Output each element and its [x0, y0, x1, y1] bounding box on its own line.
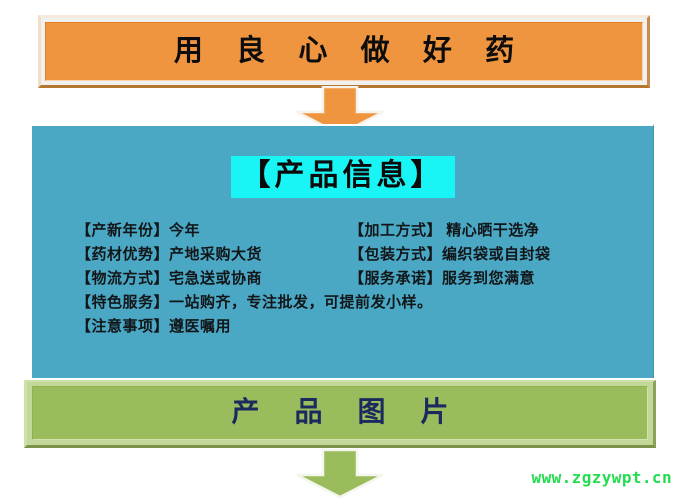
- info-label: 【产新年份】: [76, 223, 169, 239]
- info-cell-left: 【物流方式】宅急送或协商: [46, 267, 349, 291]
- info-label: 【物流方式】: [76, 271, 169, 287]
- info-row: 【注意事项】遵医嘱用: [46, 315, 653, 339]
- product-info-rows: 【产新年份】今年 【加工方式】 精心晒干选净 【药材优势】产地采购大货 【包装方…: [32, 219, 653, 339]
- info-label: 【加工方式】: [349, 223, 442, 239]
- info-row: 【物流方式】宅急送或协商 【服务承诺】服务到您满意: [46, 267, 653, 291]
- info-cell-right: 【加工方式】 精心晒干选净: [349, 219, 539, 243]
- info-value: 一站购齐，专注批发，可提前发小样。: [169, 295, 433, 311]
- product-info-title-wrap: 【产品信息】: [32, 156, 653, 198]
- slogan-banner: 用 良 心 做 好 药: [38, 15, 650, 88]
- site-watermark: www.zgzywpt.cn: [532, 468, 672, 487]
- slogan-text: 用 良 心 做 好 药: [161, 37, 527, 66]
- info-cell-left: 【药材优势】产地采购大货: [46, 243, 349, 267]
- info-label: 【药材优势】: [76, 247, 169, 263]
- info-row: 【药材优势】产地采购大货 【包装方式】编织袋或自封袋: [46, 243, 653, 267]
- info-value: 遵医嘱用: [169, 319, 231, 335]
- product-photo-banner-inner: 产 品 图 片: [32, 386, 648, 440]
- info-label: 【包装方式】: [349, 247, 442, 263]
- product-photo-text: 产 品 图 片: [217, 399, 462, 427]
- info-row: 【产新年份】今年 【加工方式】 精心晒干选净: [46, 219, 653, 243]
- slogan-banner-inner: 用 良 心 做 好 药: [45, 22, 643, 81]
- info-value: 今年: [169, 223, 200, 239]
- info-label: 【特色服务】: [76, 295, 169, 311]
- info-cell-left: 【注意事项】遵医嘱用: [46, 315, 231, 339]
- page-root: 用 良 心 做 好 药 【产品信息】 【产新年份】今年 【加工方式】 精心晒干选…: [0, 0, 680, 500]
- info-label: 【服务承诺】: [349, 271, 442, 287]
- info-value: 精心晒干选净: [442, 223, 539, 239]
- info-cell-left: 【产新年份】今年: [46, 219, 349, 243]
- info-value: 服务到您满意: [442, 271, 535, 287]
- info-row: 【特色服务】一站购齐，专注批发，可提前发小样。: [46, 291, 653, 315]
- info-value: 编织袋或自封袋: [442, 247, 551, 263]
- info-value: 产地采购大货: [169, 247, 262, 263]
- product-info-panel: 【产品信息】 【产新年份】今年 【加工方式】 精心晒干选净 【药材优势】产地采购…: [30, 124, 654, 378]
- info-value: 宅急送或协商: [169, 271, 262, 287]
- info-cell-right: 【服务承诺】服务到您满意: [349, 267, 535, 291]
- info-cell-right: 【包装方式】编织袋或自封袋: [349, 243, 551, 267]
- info-cell-left: 【特色服务】一站购齐，专注批发，可提前发小样。: [46, 291, 433, 315]
- product-info-title: 【产品信息】: [231, 156, 455, 198]
- info-label: 【注意事项】: [76, 319, 169, 335]
- down-arrow-icon-bottom: [294, 449, 386, 499]
- product-photo-banner: 产 品 图 片: [24, 380, 656, 448]
